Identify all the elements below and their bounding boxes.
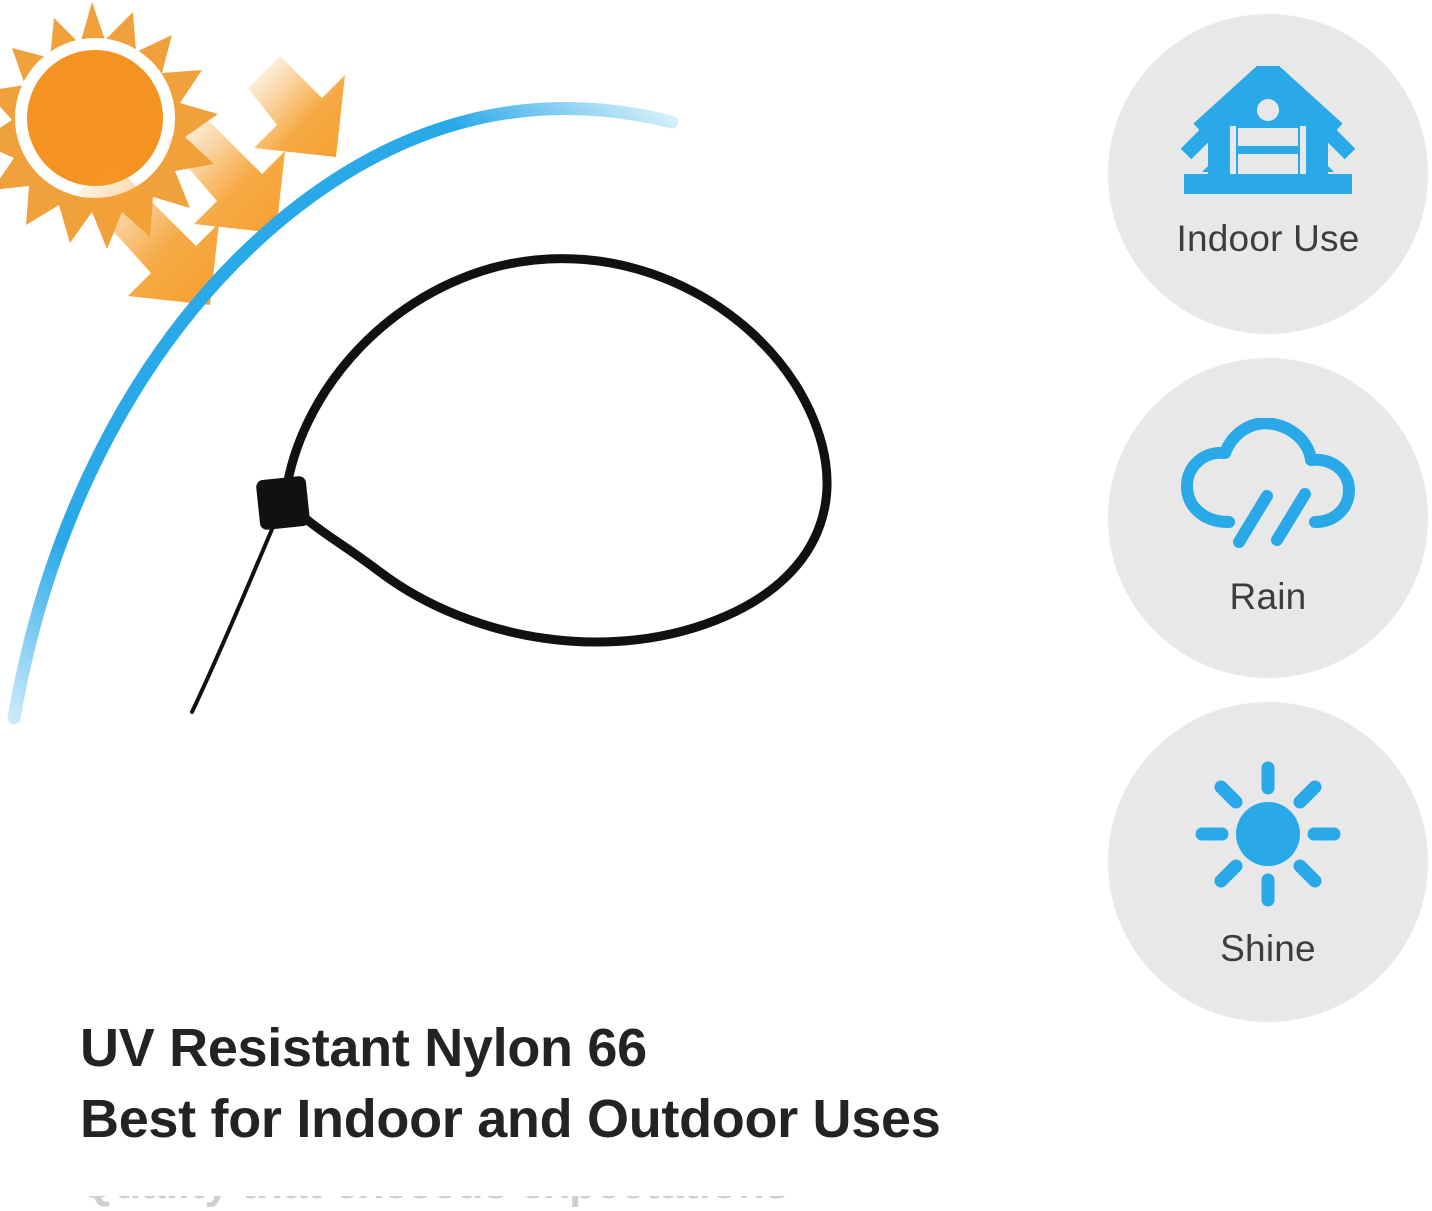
feature-rain[interactable]: Rain: [1108, 358, 1428, 678]
sun-rays-icon: [1194, 760, 1342, 908]
clipped-bottom-text: Quality that exceeds expectations: [80, 1196, 1080, 1211]
feature-circle-rail: Indoor Use Rain: [1108, 0, 1432, 1030]
feature-shine[interactable]: Shine: [1108, 702, 1428, 1022]
cable-tie-loop: [192, 259, 827, 712]
rain-cloud-icon: [1177, 414, 1359, 554]
feature-label-indoor-use: Indoor Use: [1177, 220, 1360, 257]
uv-ray-arrow-2: [166, 110, 285, 233]
headline-block: UV Resistant Nylon 66 Best for Indoor an…: [80, 1013, 1080, 1156]
uv-ray-arrow-3: [248, 56, 345, 157]
product-illustration: [0, 0, 1080, 1000]
headline-line-1: UV Resistant Nylon 66: [80, 1013, 1080, 1084]
clipped-bottom-text-line: Quality that exceeds expectations: [80, 1196, 1080, 1206]
feature-label-rain: Rain: [1230, 578, 1307, 615]
headline-line-2: Best for Indoor and Outdoor Uses: [80, 1084, 1080, 1155]
house-icon: [1180, 60, 1356, 210]
uv-resistant-cable-tie-infographic: Indoor Use Rain: [0, 0, 1432, 1211]
feature-label-shine: Shine: [1220, 930, 1316, 967]
feature-indoor-use[interactable]: Indoor Use: [1108, 14, 1428, 334]
